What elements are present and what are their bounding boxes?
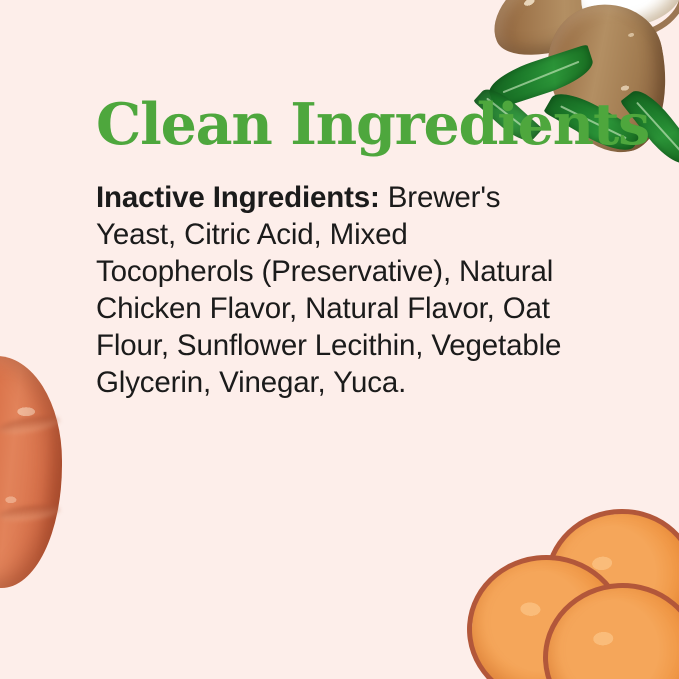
page-title: Clean Ingredients: [96, 96, 566, 153]
text-content: Clean Ingredients Inactive Ingredients: …: [96, 96, 566, 401]
inactive-ingredients-paragraph: Inactive Ingredients: Brewer's Yeast, Ci…: [96, 153, 562, 401]
sweet-potato-icon: [0, 356, 62, 588]
sweet-potato-slices-group: [467, 521, 679, 679]
product-ingredients-panel: Clean Ingredients Inactive Ingredients: …: [0, 0, 679, 679]
sweet-potato-crease: [0, 413, 61, 437]
inactive-ingredients-label: Inactive Ingredients:: [96, 181, 380, 214]
sweet-potato-crease: [0, 503, 61, 523]
